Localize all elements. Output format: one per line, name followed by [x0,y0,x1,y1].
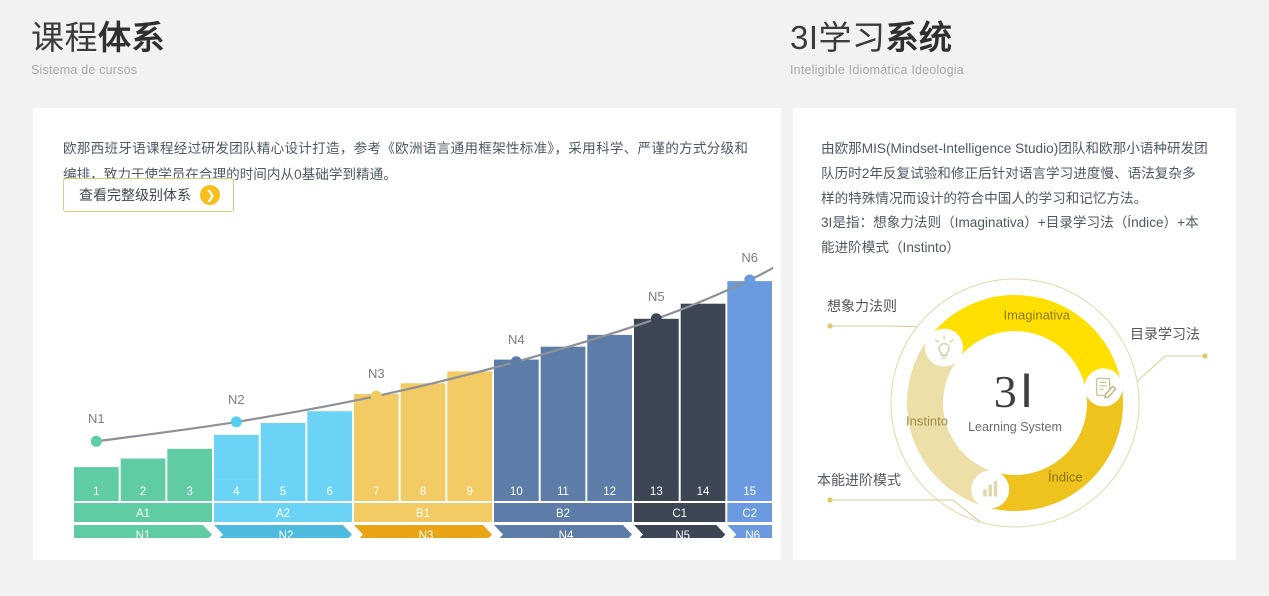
chart-level-arrow-label: N6 [745,530,760,538]
right-section-heading: 3I学习系统 Inteligible Idiomática Ideologia [790,18,964,77]
chart-number-label: 3 [186,486,192,498]
chart-number-label: 10 [510,486,523,498]
chart-bar [121,459,166,481]
chart-cefr-label: C1 [672,508,687,520]
donut-callout-dot [827,497,832,502]
learning-system-paragraph-1: 由欧那MIS(Mindset-Intelligence Studio)团队和欧那… [821,136,1208,211]
donut-svg: ImaginativaÍndiceInstinto3ⅠLearning Syst… [805,278,1225,548]
left-subtitle: Sistema de cursos [31,63,165,77]
chart-cefr-label: A2 [276,508,290,520]
left-title: 课程体系 [31,18,165,58]
course-system-panel: 欧那西班牙语课程经过研发团队精心设计打造，参考《欧洲语言通用框架性标准》，采用科… [33,108,781,560]
page-root: 课程体系 Sistema de cursos 3I学习系统 Inteligibl… [0,0,1269,596]
chart-number-label: 1 [93,486,99,498]
chart-bar [541,347,586,480]
lightbulb-icon [925,329,963,367]
right-title-bold: 系统 [886,19,953,56]
chart-cefr-label: B2 [556,508,570,520]
donut-segment-label: Índice [1048,470,1083,485]
course-level-chart: 123456789101112131415A1A2B1B2C1C2N1N2N3N… [73,208,773,538]
chart-level-arrow-label: N2 [279,530,294,538]
cta-label: 查看完整级别体系 [79,185,191,205]
view-full-level-system-button[interactable]: 查看完整级别体系 ❯ [63,178,234,212]
chart-bar [447,371,492,480]
chart-level-arrow-label: N1 [136,530,151,538]
chart-trend-point [91,436,102,447]
chart-trend-point-label: N2 [228,392,245,407]
learning-system-paragraph-2: 3I是指：想象力法则（Imaginativa）+目录学习法（Índice）+本能… [821,210,1208,260]
chart-trend-point-label: N5 [648,289,665,304]
three-i-donut-diagram: ImaginativaÍndiceInstinto3ⅠLearning Syst… [805,278,1225,548]
chart-number-label: 4 [233,486,240,498]
chart-level-arrow-label: N3 [419,530,434,538]
chart-level-arrow-label: N5 [675,530,690,538]
left-title-light: 课程 [31,19,98,56]
chart-number-label: 12 [603,486,616,498]
chart-svg: 123456789101112131415A1A2B1B2C1C2N1N2N3N… [73,208,773,538]
chart-trend-point-label: N3 [368,366,385,381]
chart-number-label: 11 [557,486,569,498]
chart-level-arrow-label: N4 [559,530,574,538]
donut-callout-label: 目录学习法 [1130,324,1200,344]
chart-number-label: 15 [743,486,756,498]
chart-cefr-label: C2 [742,508,757,520]
chart-trend-point [744,275,755,286]
chart-number-label: 2 [140,486,146,498]
chart-cefr-label: A1 [136,508,150,520]
donut-center-title: 3Ⅰ [994,366,1037,417]
chart-trend-point [231,416,242,427]
left-section-heading: 课程体系 Sistema de cursos [31,18,165,77]
chevron-right-icon: ❯ [200,185,220,205]
donut-callout-dot [827,323,832,328]
chart-number-label: 13 [650,486,663,498]
right-title-light: 3I学习 [790,19,886,56]
left-title-bold: 体系 [98,19,165,56]
chart-trend-point-label: N6 [741,250,758,265]
chart-bar [401,383,446,480]
chart-bar [681,304,726,480]
chart-trend-point [371,391,382,402]
donut-callout-line [1137,356,1205,382]
donut-segment-label: Instinto [906,414,948,429]
chart-bar [727,281,772,480]
donut-callout-dot [1202,353,1207,358]
donut-callout-label: 想象力法则 [827,296,897,316]
chart-number-label: 9 [466,486,472,498]
chart-number-label: 6 [326,486,332,498]
donut-center-subtitle: Learning System [968,420,1062,434]
chart-bar [494,360,539,480]
donut-segment-label: Imaginativa [1004,308,1071,323]
document-pen-icon [1085,368,1123,406]
chart-number-label: 5 [280,486,286,498]
chart-number-label: 14 [697,486,710,498]
bar-chart-icon [971,471,1009,509]
right-title: 3I学习系统 [790,18,964,58]
chart-bar [214,435,259,480]
right-subtitle: Inteligible Idiomática Ideologia [790,63,964,77]
chart-bar [167,449,212,480]
chart-bar [587,335,632,480]
chart-trend-point-label: N1 [88,411,105,426]
chart-bar [634,319,679,480]
chart-bar [307,411,352,480]
chart-trend-point-label: N4 [508,332,525,347]
chart-bar [261,423,306,480]
chart-bar [74,467,119,480]
donut-callout-line [830,326,917,327]
donut-callout-line [830,500,981,522]
chart-trend-point [651,313,662,324]
learning-system-panel: 由欧那MIS(Mindset-Intelligence Studio)团队和欧那… [793,108,1236,560]
chart-bar [354,394,399,480]
chart-number-label: 7 [373,486,379,498]
donut-callout-label: 本能进阶模式 [817,470,901,490]
chart-number-label: 8 [420,486,426,498]
chart-cefr-label: B1 [416,508,430,520]
chart-trend-point [511,356,522,367]
